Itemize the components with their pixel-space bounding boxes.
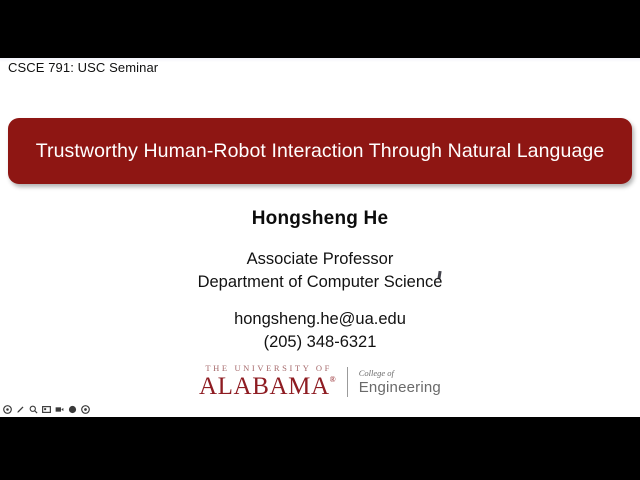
video-icon[interactable] <box>54 404 64 414</box>
speaker-name: Hongsheng He <box>0 208 640 230</box>
slide-title: Trustworthy Human-Robot Interaction Thro… <box>36 139 605 164</box>
registered-trademark-icon: ® <box>330 376 336 384</box>
pointer-icon[interactable] <box>2 404 12 414</box>
speaker-department-line: Department of Computer Science <box>0 271 640 294</box>
pen-icon[interactable] <box>15 404 25 414</box>
record-icon[interactable] <box>67 404 77 414</box>
settings-icon[interactable] <box>80 404 90 414</box>
speaker-contact: hongsheng.he@ua.edu (205) 348-6321 <box>0 308 640 354</box>
slide-area: CSCE 791: USC Seminar Trustworthy Human-… <box>0 58 640 417</box>
college-of-engineering-mark: College of Engineering <box>348 368 441 396</box>
speaker-affiliation: Associate Professor Department of Comput… <box>0 248 640 294</box>
alabama-wordmark: THE UNIVERSITY OF ALABAMA ® <box>199 363 347 400</box>
college-main-line: Engineering <box>359 379 441 396</box>
slide-title-banner: Trustworthy Human-Robot Interaction Thro… <box>8 118 632 184</box>
speaker-role-line: Associate Professor <box>0 248 640 271</box>
screen: CSCE 791: USC Seminar Trustworthy Human-… <box>0 0 640 480</box>
annotation-toolbar[interactable] <box>2 403 90 415</box>
alabama-name: ALABAMA <box>199 374 330 400</box>
alabama-name-row: ALABAMA ® <box>199 374 336 400</box>
header-title: CSCE 791: USC Seminar <box>8 60 158 75</box>
speaker-email: hongsheng.he@ua.edu <box>0 308 640 331</box>
speaker-phone: (205) 348-6321 <box>0 331 640 354</box>
header-bar: CSCE 791: USC Seminar <box>0 58 640 86</box>
college-small-line: College of <box>359 368 394 379</box>
magnifier-icon[interactable] <box>28 404 38 414</box>
whiteboard-icon[interactable] <box>41 404 51 414</box>
university-logo-lockup: THE UNIVERSITY OF ALABAMA ® College of E… <box>0 363 640 400</box>
